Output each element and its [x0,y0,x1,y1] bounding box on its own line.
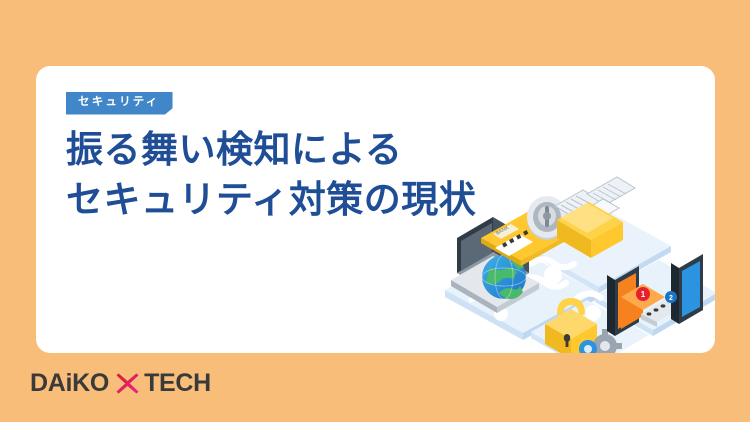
brand-logo-daiko-text: DAiKO [30,371,109,396]
page-title-line-1: 振る舞い検知による [66,126,476,175]
headline-block: セキュリティ 振る舞い検知による セキュリティ対策の現状 [66,92,476,225]
page-title: 振る舞い検知による セキュリティ対策の現状 [66,126,476,226]
svg-text:2: 2 [669,295,673,302]
banner-root: セキュリティ 振る舞い検知による セキュリティ対策の現状 [0,0,750,422]
svg-text:1: 1 [641,290,646,299]
brand-logo-tech-text: TECH [144,371,211,396]
brand-logo[interactable]: DAiKO TECH [30,369,211,397]
page-title-line-2: セキュリティ対策の現状 [66,176,476,225]
category-badge: セキュリティ [66,92,173,115]
notification-badge-icon: 1 [636,287,650,301]
x-mark-icon [115,371,140,396]
content-card: セキュリティ 振る舞い検知による セキュリティ対策の現状 [36,66,715,353]
